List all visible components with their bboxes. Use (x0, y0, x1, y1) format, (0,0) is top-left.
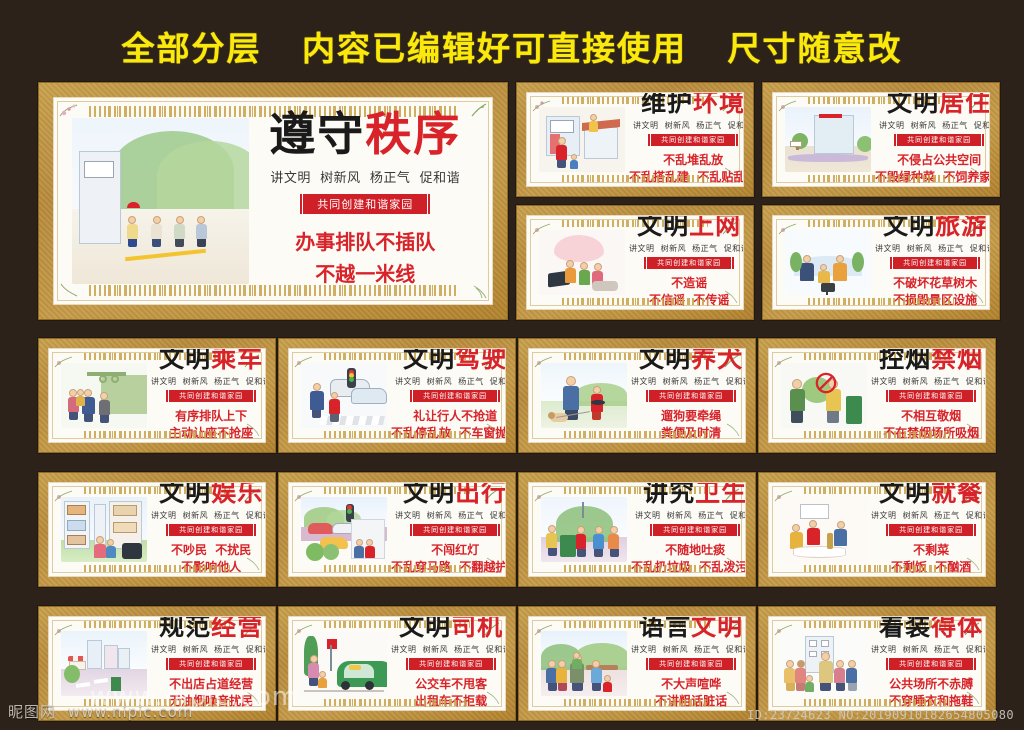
panel-ribbon: 共同创建和谐家园 (893, 134, 985, 146)
panel-slogan: 讲文明 树新风 杨正气 促和谐 (151, 510, 266, 521)
headline-part2: 居住 (939, 92, 990, 117)
panel-line-2: 不影响他人 (171, 559, 251, 576)
panel-ribbon: 共同创建和谐家园 (299, 194, 431, 214)
panel-wenming-yangquan[interactable]: 文明养犬 讲文明 树新风 杨正气 促和谐 共同创建和谐家园 遛狗要牵绳 粪便及时… (518, 338, 756, 453)
panel-slogan: 讲文明 树新风 杨正气 促和谐 (875, 243, 990, 254)
panel-slogan: 讲文明 树新风 杨正气 促和谐 (151, 644, 266, 655)
panel-illustration-apartment-garden (781, 103, 875, 176)
panel-line-2: 不损毁景区设施 (893, 292, 977, 309)
headline-part2: 乘车 (211, 348, 263, 373)
panel-line-1: 遛狗要牵绳 (661, 408, 721, 425)
panel-line-1: 不乱堆乱放 (629, 152, 744, 169)
poster-title-bar: 全部分层 内容已编辑好可直接使用 尺寸随意改 (0, 22, 1024, 70)
panel-illustration-no-smoking (777, 359, 871, 432)
headline-part1: 着装 (879, 616, 931, 641)
panel-line-2: 粪便及时清 (661, 425, 721, 442)
panel-ribbon: 共同创建和谐家园 (645, 658, 737, 670)
panel-line-2: 主动让座不抢座 (169, 425, 253, 442)
panel-ribbon: 共同创建和谐家园 (405, 658, 497, 670)
panel-ribbon: 共同创建和谐家园 (165, 524, 257, 536)
headline-part2: 卫生 (695, 482, 746, 507)
panel-ribbon: 共同创建和谐家园 (409, 524, 501, 536)
panel-ribbon: 共同创建和谐家园 (889, 257, 981, 269)
panel-line-2: 不越一米线 (295, 258, 435, 290)
headline-part2: 经营 (211, 616, 263, 641)
panel-line-2: 不剩饭 不酗酒 (891, 559, 971, 576)
panel-illustration-dog-walk (537, 359, 631, 432)
panel-body: 遵守秩序 讲文明 树新风 杨正气 促和谐 共同创建和谐家园 办事排队不插队 不越… (68, 114, 478, 288)
headline-part1: 文明 (403, 348, 455, 373)
panel-ribbon: 共同创建和谐家园 (165, 658, 257, 670)
panel-kongyan-jinyan[interactable]: 控烟禁烟 讲文明 树新风 杨正气 促和谐 共同创建和谐家园 不相互敬烟 不在禁烟… (758, 338, 996, 453)
panel-line-1: 礼让行人不抢道 (391, 408, 506, 425)
panel-illustration-park-family (537, 627, 631, 700)
panel-slogan: 讲文明 树新风 杨正气 促和谐 (629, 243, 744, 254)
panel-line-1: 不破坏花草树木 (893, 275, 977, 292)
headline-part1: 文明 (159, 348, 211, 373)
headline-part2: 出行 (455, 482, 506, 507)
headline-part1: 文明 (887, 92, 939, 117)
panel-slogan: 讲文明 树新风 杨正气 促和谐 (879, 120, 990, 131)
panel-line-2: 不信谣 不传谣 (649, 292, 729, 309)
panel-lines: 办事排队不插队 不越一米线 (295, 226, 435, 290)
panel-line-1: 不随地吐痰 (631, 542, 746, 559)
panel-illustration-apartment-windows (57, 493, 151, 566)
panel-wenming-siji[interactable]: 文明司机 讲文明 树新风 杨正气 促和谐 共同创建和谐家园 公交车不甩客 出租车… (278, 606, 516, 721)
panel-wenming-lvyou[interactable]: 文明旅游 讲文明 树新风 杨正气 促和谐 共同创建和谐家园 不破坏花草树木 不损… (762, 205, 1000, 320)
panel-slogan: 讲文明 树新风 杨正气 促和谐 (395, 510, 506, 521)
panel-line-2: 不乱搭乱建 不乱贴乱画 (629, 169, 744, 186)
panel-illustration-family-laptop (535, 226, 629, 299)
watermark-site-url: www.nipic.com (68, 703, 194, 721)
headline-part2: 秩序 (365, 107, 461, 161)
panel-slogan: 讲文明 树新风 杨正气 促和谐 (270, 167, 460, 186)
panel-wenming-shangwang[interactable]: 文明上网 讲文明 树新风 杨正气 促和谐 共同创建和谐家园 不造谣 不信谣 不传… (516, 205, 754, 320)
headline-part1: 文明 (403, 482, 455, 507)
headline-part2: 养犬 (691, 348, 743, 373)
headline-part2: 上网 (689, 215, 741, 240)
panel-line-1: 不侵占公共空间 (875, 152, 990, 169)
panel-illustration-couple-camera (781, 226, 875, 299)
panel-ribbon: 共同创建和谐家园 (649, 524, 741, 536)
panel-line-1: 不剩菜 (891, 542, 971, 559)
headline-part2: 娱乐 (211, 482, 263, 507)
panel-ribbon: 共同创建和谐家园 (165, 390, 257, 402)
panel-line-1: 有序排队上下 (169, 408, 253, 425)
panel-wenming-chengche[interactable]: 文明乘车 讲文明 树新风 杨正气 促和谐 共同创建和谐家园 有序排队上下 主动让… (38, 338, 276, 453)
panel-line-2: 不乱扔垃圾 不乱泼污水 (631, 559, 746, 576)
panel-wenming-jiashi[interactable]: 文明驾驶 讲文明 树新风 杨正气 促和谐 共同创建和谐家园 礼让行人不抢道 不乱… (278, 338, 516, 453)
panel-illustration-street-crowd (777, 627, 871, 700)
panel-wenming-jiucan[interactable]: 文明就餐 讲文明 树新风 杨正气 促和谐 共同创建和谐家园 不剩菜 不剩饭 不酗… (758, 472, 996, 587)
watermark-site: 昵图网 www.nipic.com (8, 701, 193, 722)
panel-slogan: 讲文明 树新风 杨正气 促和谐 (631, 644, 746, 655)
panel-line-1: 办事排队不插队 (295, 226, 435, 258)
panel-line-1: 不造谣 (649, 275, 729, 292)
panel-ribbon: 共同创建和谐家园 (885, 658, 977, 670)
watermark-site-cn: 昵图网 (8, 703, 56, 721)
panel-illustration-taxi-stop (297, 627, 391, 700)
headline-part1: 文明 (879, 482, 931, 507)
panel-slogan: 讲文明 树新风 杨正气 促和谐 (631, 376, 746, 387)
panel-ribbon: 共同创建和谐家园 (647, 134, 739, 146)
panel-wenming-yule[interactable]: 文明娱乐 讲文明 树新风 杨正气 促和谐 共同创建和谐家园 不吵民 不扰民 不影… (38, 472, 276, 587)
panel-ribbon: 共同创建和谐家园 (885, 524, 977, 536)
headline-part1: 讲究 (643, 482, 695, 507)
panel-slogan: 讲文明 树新风 杨正气 促和谐 (633, 120, 744, 131)
headline-part2: 旅游 (935, 215, 987, 240)
headline-part1: 控烟 (879, 348, 931, 373)
headline-part2: 文明 (691, 616, 743, 641)
headline-part1: 文明 (883, 215, 935, 240)
panel-wenming-juzhu[interactable]: 文明居住 讲文明 树新风 杨正气 促和谐 共同创建和谐家园 不侵占公共空间 不毁… (762, 82, 1000, 197)
headline-part1: 遵守 (269, 107, 365, 161)
panel-slogan: 讲文明 树新风 杨正气 促和谐 (871, 376, 986, 387)
panel-line-2: 出租车不拒载 (415, 693, 487, 710)
panel-line-2: 不在禁烟场所吸烟 (883, 425, 979, 442)
no-smoking-icon (815, 372, 837, 394)
headline-part1: 文明 (639, 348, 691, 373)
headline-part2: 驾驶 (455, 348, 506, 373)
watermark-id: ID:23724623 NO:20190910182654805080 (747, 708, 1014, 722)
panel-line-1: 不相互敬烟 (883, 408, 979, 425)
panel-illustration-queue-at-counter (68, 114, 253, 288)
panel-weihu-huanjing[interactable]: 维护环境 讲文明 树新风 杨正气 促和谐 共同创建和谐家园 不乱堆乱放 不乱搭乱… (516, 82, 754, 197)
panel-illustration-shop-street (57, 627, 151, 700)
panel-line-2: 不讲粗话脏话 (655, 693, 727, 710)
panel-inner: 遵守秩序 讲文明 树新风 杨正气 促和谐 共同创建和谐家园 办事排队不插队 不越… (53, 97, 493, 305)
headline-part2: 得体 (931, 616, 983, 641)
panel-line-2: 不毁绿种菜 不饲养家禽 (875, 169, 990, 186)
panel-slogan: 讲文明 树新风 杨正气 促和谐 (871, 644, 986, 655)
poster-canvas: 全部分层 内容已编辑好可直接使用 尺寸随意改 (0, 0, 1024, 730)
panel-ribbon: 共同创建和谐家园 (409, 390, 501, 402)
headline-part1: 文明 (159, 482, 211, 507)
panel-slogan: 讲文明 树新风 杨正气 促和谐 (391, 644, 506, 655)
panel-line-1: 不出店占道经营 (169, 676, 253, 693)
panel-slogan: 讲文明 树新风 杨正气 促和谐 (151, 376, 266, 387)
headline-part1: 规范 (159, 616, 211, 641)
panel-headline: 遵守秩序 (269, 110, 461, 158)
panel-text: 遵守秩序 讲文明 树新风 杨正气 促和谐 共同创建和谐家园 办事排队不插队 不越… (253, 114, 479, 288)
headline-part1: 语言 (639, 616, 691, 641)
headline-part2: 司机 (451, 616, 503, 641)
panel-slogan: 讲文明 树新风 杨正气 促和谐 (871, 510, 986, 521)
headline-part1: 文明 (637, 215, 689, 240)
panel-wenming-chuxing[interactable]: 文明出行 讲文明 树新风 杨正气 促和谐 共同创建和谐家园 不闯红灯 不乱穿马路… (278, 472, 516, 587)
panel-illustration-crosswalk (297, 359, 391, 432)
panel-line-1: 不吵民 不扰民 (171, 542, 251, 559)
panel-yuyan-wenming[interactable]: 语言文明 讲文明 树新风 杨正气 促和谐 共同创建和谐家园 不大声喧哗 不讲粗话… (518, 606, 756, 721)
panel-zunshou-zhixu[interactable]: 遵守秩序 讲文明 树新风 杨正气 促和谐 共同创建和谐家园 办事排队不插队 不越… (38, 82, 508, 320)
panel-ribbon: 共同创建和谐家园 (643, 257, 735, 269)
panel-line-1: 公交车不甩客 (415, 676, 487, 693)
panel-line-1: 不闯红灯 (391, 542, 506, 559)
panel-illustration-bus-interior (57, 359, 151, 432)
panel-slogan: 讲文明 树新风 杨正气 促和谐 (395, 376, 506, 387)
panel-ribbon: 共同创建和谐家园 (645, 390, 737, 402)
panel-illustration-dining-table (777, 493, 871, 566)
panel-illustration-traffic-light (297, 493, 391, 566)
panel-slogan: 讲文明 树新风 杨正气 促和谐 (635, 510, 746, 521)
headline-part2: 禁烟 (931, 348, 983, 373)
panel-line-1: 不大声喧哗 (655, 676, 727, 693)
headline-part2: 环境 (693, 92, 744, 117)
headline-part2: 就餐 (931, 482, 983, 507)
headline-part1: 文明 (399, 616, 451, 641)
panel-line-2: 不乱停乱放 不车窗抛物 (391, 425, 506, 442)
headline-part1: 维护 (641, 92, 693, 117)
panel-zhuozhuang-deti[interactable]: 着装得体 讲文明 树新风 杨正气 促和谐 共同创建和谐家园 公共场所不赤膊 不穿… (758, 606, 996, 721)
panel-illustration-house-wall (535, 103, 629, 176)
panel-line-1: 公共场所不赤膊 (889, 676, 973, 693)
poster-title: 全部分层 内容已编辑好可直接使用 尺寸随意改 (122, 22, 903, 70)
panel-illustration-cleaning-park (537, 493, 631, 566)
panel-jiangjiu-weisheng[interactable]: 讲究卫生 讲文明 树新风 杨正气 促和谐 共同创建和谐家园 不随地吐痰 不乱扔垃… (518, 472, 756, 587)
panel-ribbon: 共同创建和谐家园 (885, 390, 977, 402)
panel-line-2: 不乱穿马路 不翻越护栏 (391, 559, 506, 576)
